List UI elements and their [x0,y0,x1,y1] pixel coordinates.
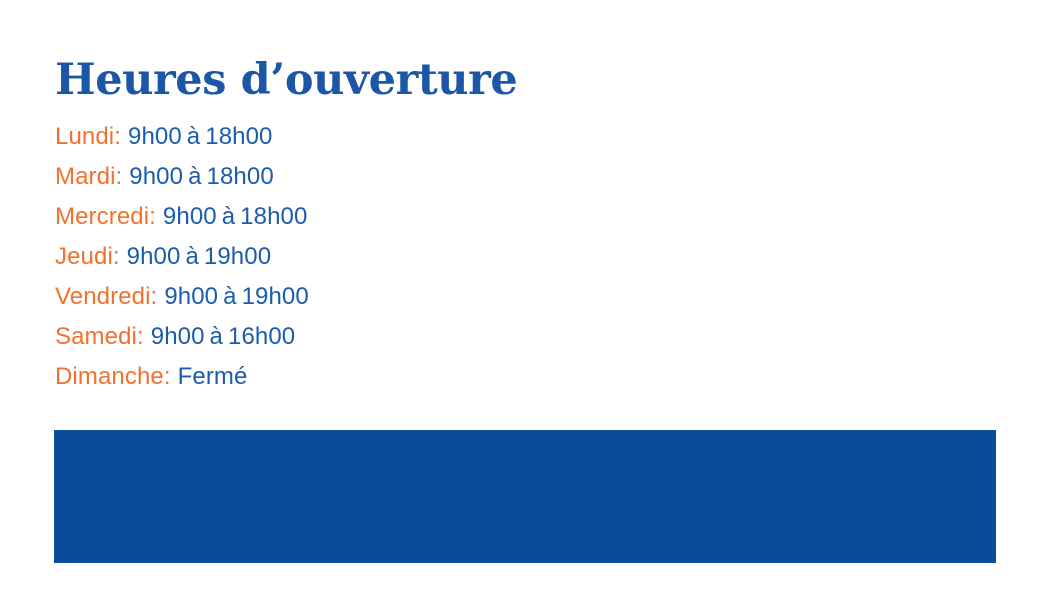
time-value-lundi: 9h00à18h00 [128,123,273,150]
page-title: Heures d’ouverture [55,58,1000,103]
open-time-vendredi: 9h00 [164,283,218,310]
close-time-samedi: 16h00 [228,323,295,350]
day-label-mardi: Mardi: [55,163,122,190]
hours-row-vendredi: Vendredi:9h00à19h00 [55,277,1000,317]
open-time-samedi: 9h00 [151,323,205,350]
time-value-vendredi: 9h00à19h00 [164,283,309,310]
time-separator-samedi: à [205,323,228,350]
hours-row-mardi: Mardi:9h00à18h00 [55,157,1000,197]
time-value-mercredi: 9h00à18h00 [163,203,308,230]
close-time-mardi: 18h00 [207,163,274,190]
day-label-mercredi: Mercredi: [55,203,156,230]
content-block: Heures d’ouverture Lundi:9h00à18h00 Mard… [55,58,1000,397]
day-label-jeudi: Jeudi: [55,243,120,270]
day-label-samedi: Samedi: [55,323,144,350]
hours-row-dimanche: Dimanche:Fermé [55,357,1000,397]
blue-banner-block [54,430,996,563]
open-time-mercredi: 9h00 [163,203,217,230]
time-separator-mercredi: à [217,203,240,230]
day-label-lundi: Lundi: [55,123,121,150]
close-time-mercredi: 18h00 [240,203,307,230]
time-separator-lundi: à [182,123,205,150]
time-value-mardi: 9h00à18h00 [129,163,274,190]
hours-row-samedi: Samedi:9h00à16h00 [55,317,1000,357]
close-time-lundi: 18h00 [205,123,272,150]
open-time-lundi: 9h00 [128,123,182,150]
day-label-vendredi: Vendredi: [55,283,157,310]
time-value-samedi: 9h00à16h00 [151,323,296,350]
hours-row-jeudi: Jeudi:9h00à19h00 [55,237,1000,277]
open-time-dimanche: Fermé [178,363,248,390]
hours-row-mercredi: Mercredi:9h00à18h00 [55,197,1000,237]
close-time-jeudi: 19h00 [204,243,271,270]
time-separator-vendredi: à [218,283,241,310]
hours-row-lundi: Lundi:9h00à18h00 [55,117,1000,157]
time-separator-jeudi: à [180,243,203,270]
close-time-vendredi: 19h00 [242,283,309,310]
slide-root: Heures d’ouverture Lundi:9h00à18h00 Mard… [0,0,1050,600]
time-value-dimanche: Fermé [178,363,248,390]
open-time-mardi: 9h00 [129,163,183,190]
open-time-jeudi: 9h00 [127,243,181,270]
day-label-dimanche: Dimanche: [55,363,171,390]
opening-hours-list: Lundi:9h00à18h00 Mardi:9h00à18h00 Mercre… [55,117,1000,397]
time-value-jeudi: 9h00à19h00 [127,243,272,270]
time-separator-mardi: à [183,163,206,190]
